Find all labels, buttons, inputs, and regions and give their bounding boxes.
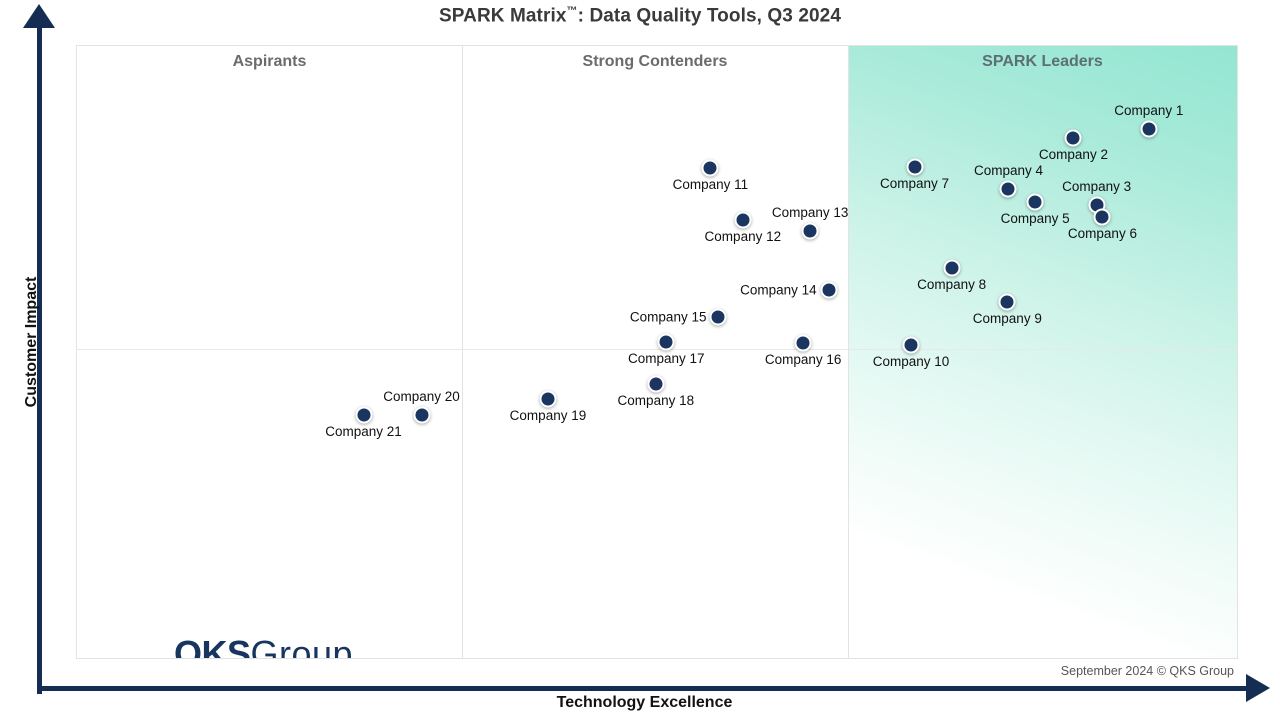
quadrant-divider-left	[462, 46, 463, 658]
data-point-label-company-5: Company 5	[1001, 211, 1070, 226]
data-point-label-company-9: Company 9	[973, 311, 1042, 326]
quadrant-divider-horizontal	[77, 349, 1237, 350]
data-point-company-7[interactable]	[906, 158, 923, 175]
data-point-company-5[interactable]	[1027, 194, 1044, 211]
quadrant-label-spark-leaders: SPARK Leaders	[848, 53, 1237, 71]
logo-qks-text: QKS	[174, 633, 251, 659]
data-point-company-11[interactable]	[702, 159, 719, 176]
data-point-label-company-10: Company 10	[873, 354, 950, 369]
data-point-label-company-4: Company 4	[974, 163, 1043, 178]
data-point-label-company-8: Company 8	[917, 277, 986, 292]
logo-group-text: Group	[251, 633, 354, 659]
data-point-label-company-17: Company 17	[628, 351, 705, 366]
x-axis-label: Technology Excellence	[37, 694, 1252, 712]
data-point-company-4[interactable]	[1000, 181, 1017, 198]
data-point-label-company-11: Company 11	[673, 177, 749, 192]
data-point-label-company-20: Company 20	[383, 389, 460, 404]
quadrant-label-strong-contenders: Strong Contenders	[462, 53, 848, 71]
data-point-company-12[interactable]	[734, 211, 751, 228]
data-point-company-8[interactable]	[943, 260, 960, 277]
data-point-label-company-19: Company 19	[510, 408, 587, 423]
data-point-company-21[interactable]	[355, 407, 372, 424]
title-suffix: : Data Quality Tools, Q3 2024	[578, 5, 841, 26]
data-point-label-company-12: Company 12	[705, 229, 782, 244]
data-point-label-company-18: Company 18	[618, 393, 695, 408]
x-axis-line	[37, 686, 1252, 691]
data-point-label-company-14: Company 14	[740, 283, 817, 298]
y-axis-label: Customer Impact	[23, 262, 41, 422]
data-point-company-13[interactable]	[802, 222, 819, 239]
data-point-company-2[interactable]	[1065, 129, 1082, 146]
data-point-company-14[interactable]	[820, 282, 837, 299]
data-point-company-18[interactable]	[647, 376, 664, 393]
data-point-company-20[interactable]	[413, 407, 430, 424]
data-point-company-1[interactable]	[1140, 121, 1157, 138]
title-main: SPARK Matrix	[439, 5, 567, 26]
data-point-label-company-21: Company 21	[325, 424, 402, 439]
data-point-label-company-7: Company 7	[880, 176, 949, 191]
data-point-label-company-1: Company 1	[1114, 103, 1183, 118]
data-point-company-19[interactable]	[539, 390, 556, 407]
data-point-company-17[interactable]	[658, 334, 675, 351]
copyright-text: September 2024 © QKS Group	[1061, 664, 1234, 678]
data-point-company-16[interactable]	[795, 334, 812, 351]
quadrant-label-aspirants: Aspirants	[77, 53, 462, 71]
plot-area: Aspirants Strong Contenders SPARK Leader…	[76, 45, 1238, 659]
quadrant-divider-right	[848, 46, 849, 658]
spark-matrix-chart: SPARK Matrix™: Data Quality Tools, Q3 20…	[0, 0, 1280, 720]
data-point-label-company-15: Company 15	[630, 310, 707, 325]
data-point-label-company-16: Company 16	[765, 352, 842, 367]
data-point-company-6[interactable]	[1094, 208, 1111, 225]
data-point-label-company-2: Company 2	[1039, 147, 1108, 162]
page-title: SPARK Matrix™: Data Quality Tools, Q3 20…	[0, 5, 1280, 27]
data-point-label-company-3: Company 3	[1062, 179, 1131, 194]
data-point-company-10[interactable]	[903, 337, 920, 354]
trademark-symbol: ™	[567, 5, 578, 17]
data-point-label-company-6: Company 6	[1068, 226, 1137, 241]
data-point-company-15[interactable]	[710, 309, 727, 326]
data-point-company-9[interactable]	[999, 293, 1016, 310]
qks-group-logo: QKSGroup	[174, 636, 353, 659]
data-point-label-company-13: Company 13	[772, 205, 849, 220]
